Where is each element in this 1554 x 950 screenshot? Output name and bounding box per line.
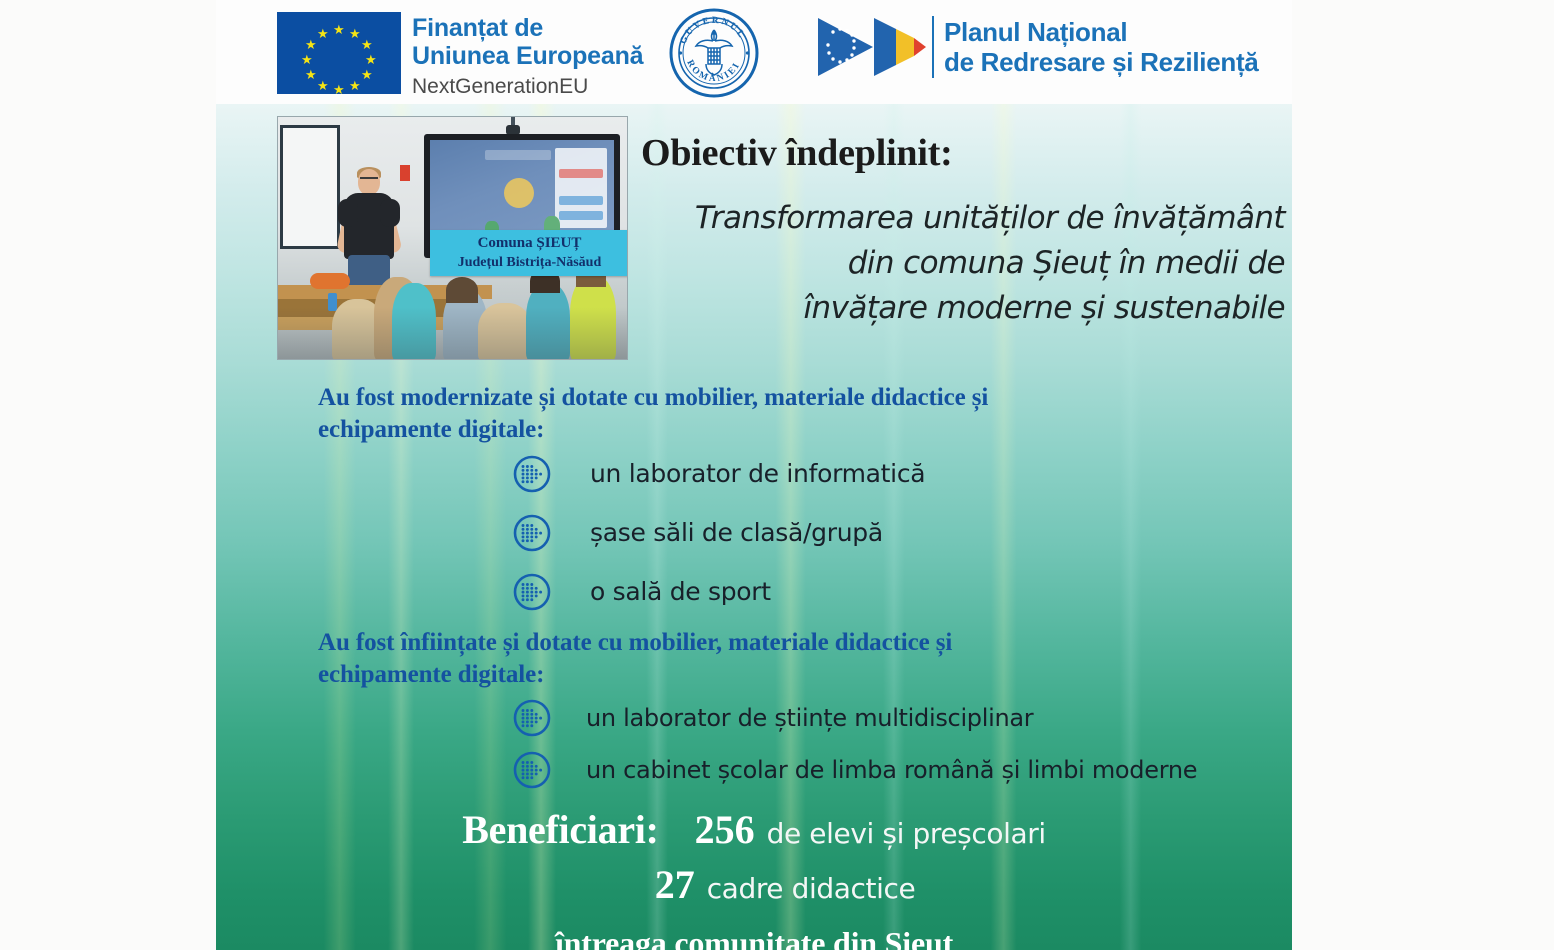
list-item: o sală de sport [512, 572, 925, 612]
photo-wall-marker [400, 165, 410, 181]
subtitle-line-1: Transformarea unităților de învățământ [641, 196, 1285, 241]
eu-flag-icon [277, 12, 401, 94]
dotted-arrow-bullet-icon [512, 513, 552, 553]
pnrr-double-arrow-icon [816, 14, 928, 80]
eu-logo-line2: Uniunea Europeană [412, 42, 643, 70]
list-item: un laborator de informatică [512, 454, 925, 494]
dotted-arrow-bullet-icon [512, 572, 552, 612]
photo-banner-line1: Comuna ȘIEUȚ [478, 234, 582, 253]
section-2-heading-line-1: Au fost înființate și dotate cu mobilier… [318, 627, 1208, 659]
list-item-label: o sală de sport [590, 577, 771, 607]
photo-whiteboard [280, 125, 340, 249]
eu-logo-line1: Finanțat de [412, 14, 643, 42]
beneficiaries-row-1: Beneficiari: 256 de elevi și preșcolari [216, 806, 1292, 856]
photo-location-banner: Comuna ȘIEUȚ Județul Bistrița-Năsăud [430, 230, 628, 276]
list-item: un cabinet școlar de limba română și lim… [512, 750, 1197, 790]
section-1-list: un laborator de informatică [512, 454, 925, 631]
beneficiaries-number-students: 256 [695, 806, 755, 854]
section-1-heading-line-2: echipamente digitale: [318, 414, 1208, 446]
section-2-list: un laborator de științe multidisciplinar [512, 698, 1197, 802]
list-item-label: șase săli de clasă/grupă [590, 518, 883, 548]
pnrr-line2: de Redresare și Reziliență [944, 47, 1258, 77]
classroom-photo: Comuna ȘIEUȚ Județul Bistrița-Năsăud [277, 116, 628, 360]
headline-block: Obiectiv îndeplinit: Transformarea unită… [641, 131, 1291, 331]
section-2-heading-line-2: echipamente digitale: [318, 659, 1208, 691]
beneficiaries-desc-teachers: cadre didactice [707, 867, 916, 911]
pnrr-line1: Planul Național [944, 17, 1258, 47]
pnrr-divider [932, 16, 934, 78]
section-heading-modernizate: Au fost modernizate și dotate cu mobilie… [318, 382, 1208, 446]
list-item: un laborator de științe multidisciplinar [512, 698, 1197, 738]
photo-board-button-blue-2 [559, 211, 603, 220]
photo-board-button-red [559, 169, 603, 178]
photo-teacher-glasses [360, 177, 378, 183]
list-item-label: un cabinet școlar de limba română și lim… [586, 755, 1197, 785]
list-item-label: un laborator de științe multidisciplinar [586, 703, 1033, 733]
page-title: Obiectiv îndeplinit: [641, 131, 1291, 175]
beneficiaries-desc-students: de elevi și preșcolari [767, 812, 1046, 856]
beneficiaries-row-2: 27 cadre didactice [216, 861, 1292, 911]
eu-logo-line3: NextGenerationEU [412, 70, 643, 101]
pnrr-logo: Planul Național de Redresare și Rezilien… [816, 14, 1258, 80]
pnrr-text: Planul Național de Redresare și Rezilien… [944, 17, 1258, 77]
photo-foreground-shadow [278, 307, 627, 359]
beneficiaries-community: întreaga comunitate din Șieuț [216, 923, 1292, 950]
beneficiaries-number-teachers: 27 [655, 861, 695, 909]
photo-backpack [310, 273, 350, 289]
subtitle-line-2: din comuna Șieuț în medii de [641, 241, 1285, 286]
photo-teacher-sleeve-right [380, 199, 400, 227]
eu-funding-logo: Finanțat de Uniunea Europeană NextGenera… [277, 12, 643, 101]
photo-board-sun-graphic [504, 178, 534, 208]
photo-student-head [446, 277, 478, 303]
beneficiaries-block: Beneficiari: 256 de elevi și preșcolari … [216, 806, 1292, 950]
beneficiaries-label: Beneficiari: [462, 806, 658, 854]
logo-bar: Finanțat de Uniunea Europeană NextGenera… [216, 0, 1292, 104]
dotted-arrow-bullet-icon [512, 750, 552, 790]
section-1-heading-line-1: Au fost modernizate și dotate cu mobilie… [318, 382, 1208, 414]
poster-canvas: Finanțat de Uniunea Europeană NextGenera… [216, 0, 1292, 950]
list-item: șase săli de clasă/grupă [512, 513, 925, 553]
dotted-arrow-bullet-icon [512, 698, 552, 738]
photo-banner-line2: Județul Bistrița-Năsăud [458, 253, 602, 272]
poster-page: Finanțat de Uniunea Europeană NextGenera… [0, 0, 1554, 950]
romanian-government-seal-icon: GUVERNUL ROMÂNIEI [668, 7, 760, 99]
dotted-arrow-bullet-icon [512, 454, 552, 494]
subtitle-line-3: învățare moderne și sustenabile [641, 286, 1285, 331]
photo-board-button-blue-1 [559, 196, 603, 205]
list-item-label: un laborator de informatică [590, 459, 925, 489]
section-heading-infiintate: Au fost înființate și dotate cu mobilier… [318, 627, 1208, 691]
eu-funding-text: Finanțat de Uniunea Europeană NextGenera… [412, 12, 643, 101]
photo-teacher-sleeve-left [338, 199, 358, 227]
photo-board-title-bar [485, 150, 551, 160]
page-subtitle: Transformarea unităților de învățământ d… [641, 196, 1291, 331]
